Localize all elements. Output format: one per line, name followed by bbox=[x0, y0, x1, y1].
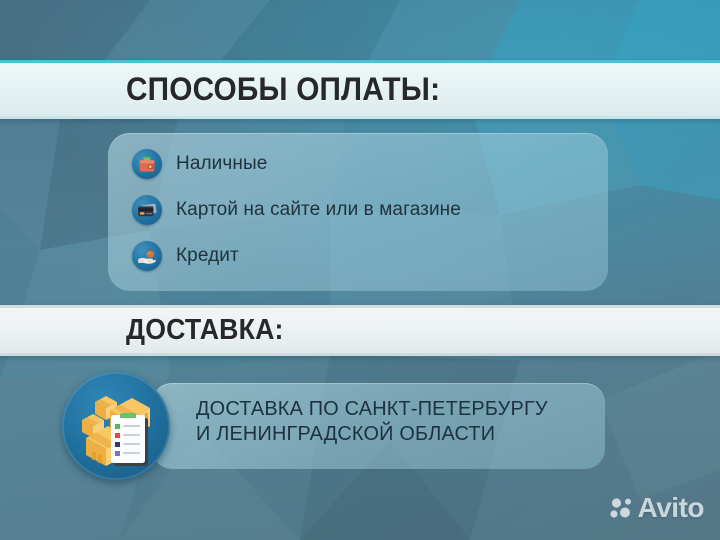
avito-watermark: Avito bbox=[609, 492, 704, 524]
delivery-area-text: ДОСТАВКА ПО САНКТ-ПЕТЕРБУРГУ И ЛЕНИНГРАД… bbox=[196, 396, 584, 446]
page-title-payment: СПОСОБЫ ОПЛАТЫ: bbox=[126, 71, 440, 108]
avito-dots-icon bbox=[609, 497, 635, 519]
page-title-delivery: ДОСТАВКА: bbox=[126, 314, 284, 347]
payment-heading-banner: СПОСОБЫ ОПЛАТЫ: bbox=[0, 60, 720, 119]
payment-methods-list: Наличные Картой на сайте или в магазине bbox=[108, 133, 608, 279]
payment-delivery-infographic: СПОСОБЫ ОПЛАТЫ: Наличные bbox=[0, 0, 720, 540]
parcel-boxes-clipboard-icon bbox=[62, 372, 170, 480]
hand-money-bag-icon bbox=[132, 241, 162, 271]
payment-method-label: Картой на сайте или в магазине bbox=[176, 199, 461, 221]
delivery-text-line-1: ДОСТАВКА ПО САНКТ-ПЕТЕРБУРГУ bbox=[196, 396, 584, 421]
payment-methods-panel: Наличные Картой на сайте или в магазине bbox=[108, 133, 608, 291]
delivery-heading-banner: ДОСТАВКА: bbox=[0, 305, 720, 356]
avito-wordmark: Avito bbox=[638, 492, 704, 524]
list-item[interactable]: Картой на сайте или в магазине bbox=[108, 187, 608, 233]
wallet-icon bbox=[132, 149, 162, 179]
credit-card-icon bbox=[132, 195, 162, 225]
list-item[interactable]: Кредит bbox=[108, 233, 608, 279]
payment-method-label: Наличные bbox=[176, 153, 267, 175]
list-item[interactable]: Наличные bbox=[108, 141, 608, 187]
delivery-text-line-2: И ЛЕНИНГРАДСКОЙ ОБЛАСТИ bbox=[196, 421, 584, 446]
payment-method-label: Кредит bbox=[176, 245, 239, 267]
